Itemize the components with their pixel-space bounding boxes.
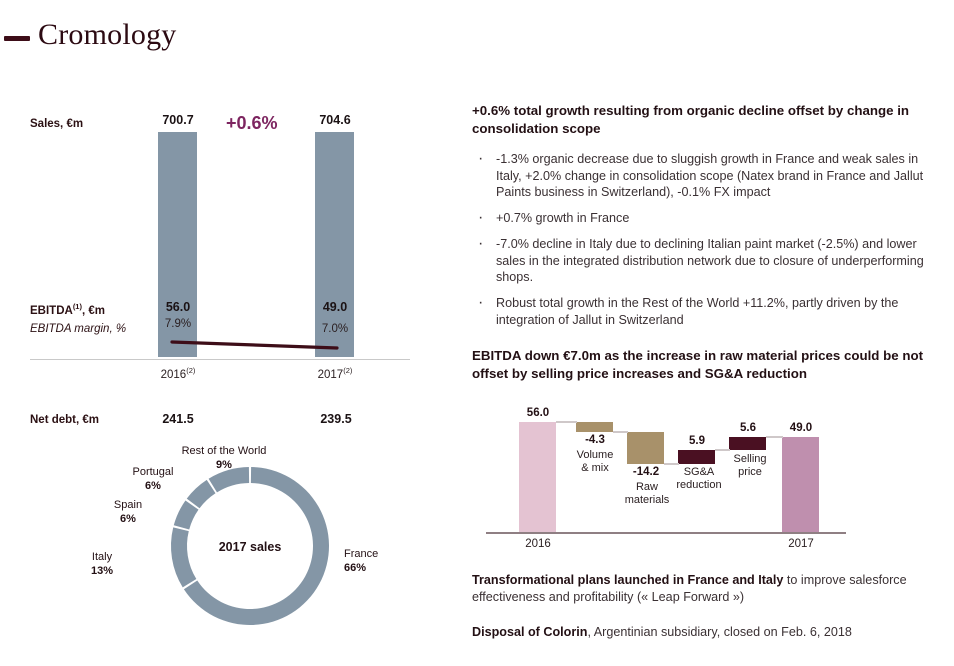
waterfall-value-selling-price: 5.6 [722, 422, 774, 434]
waterfall-bar-2017 [782, 437, 819, 532]
right-heading-growth: +0.6% total growth resulting from organi… [472, 102, 942, 137]
ebitda-margin-value-2016: 7.9% [156, 318, 200, 330]
waterfall-value-2017: 49.0 [775, 422, 827, 434]
ebitda-margin-trend-line [0, 0, 452, 420]
waterfall-label-volume-mix: Volume& mix [568, 449, 622, 475]
waterfall-value-sga-reduction: 5.9 [671, 435, 723, 447]
ebitda-label-main: EBITDA [30, 305, 73, 317]
waterfall-connector-4 [715, 449, 730, 451]
net-debt-value-2016: 241.5 [150, 412, 206, 426]
waterfall-value-raw-materials: -14.2 [620, 466, 672, 478]
growth-badge: +0.6% [226, 113, 278, 134]
ebitda-margin-value-2017: 7.0% [313, 323, 357, 335]
waterfall-bar-sga-reduction [678, 450, 715, 464]
disposal-colorin-rest: , Argentinian subsidiary, closed on Feb.… [587, 625, 851, 639]
waterfall-label-sga-reduction: SG&Areduction [668, 466, 730, 492]
list-item: -1.3% organic decrease due to sluggish g… [472, 151, 944, 201]
donut-label-france: France 66% [344, 548, 378, 576]
waterfall-tick-2017: 2017 [774, 538, 828, 550]
waterfall-bar-volume-mix [576, 422, 613, 432]
waterfall-connector-3 [664, 463, 679, 465]
transformational-plans-bold: Transformational plans launched in Franc… [472, 573, 783, 587]
list-item: +0.7% growth in France [472, 210, 944, 227]
disposal-colorin-bold: Disposal of Colorin [472, 625, 587, 639]
axis-tick-2016: 2016(2) [158, 366, 198, 381]
net-debt-label: Net debt, €m [30, 414, 99, 426]
growth-bullet-list: -1.3% organic decrease due to sluggish g… [472, 142, 944, 329]
donut-segment [171, 527, 196, 587]
waterfall-bar-selling-price [729, 437, 766, 450]
donut-label-spain: Spain 6% [104, 499, 152, 527]
ebitda-label-tail: , €m [82, 305, 105, 317]
left-panel: Sales, €m 700.7 704.6 +0.6% EBITDA(1), €… [0, 0, 452, 666]
sales-label: Sales, €m [30, 118, 83, 130]
waterfall-value-volume-mix: -4.3 [569, 434, 621, 446]
ebitda-value-2016: 56.0 [156, 300, 200, 314]
waterfall-label-selling-price: Sellingprice [722, 453, 778, 479]
ebitda-margin-label: EBITDA margin, % [30, 323, 126, 335]
waterfall-axis-line [486, 532, 846, 534]
ebitda-value-2017: 49.0 [313, 300, 357, 314]
donut-label-italy: Italy 13% [78, 551, 126, 579]
waterfall-bar-2016 [519, 422, 556, 532]
chart-axis-line [30, 359, 410, 360]
sales-value-2016: 700.7 [158, 113, 198, 127]
donut-label-rest-of-world: Rest of the World 9% [165, 445, 283, 473]
right-panel: +0.6% total growth resulting from organi… [468, 0, 954, 666]
donut-segment [187, 480, 216, 508]
net-debt-value-2017: 239.5 [308, 412, 364, 426]
list-item: -7.0% decline in Italy due to declining … [472, 236, 944, 286]
waterfall-bar-raw-materials [627, 432, 664, 464]
sales-value-2017: 704.6 [315, 113, 355, 127]
donut-segment [174, 500, 199, 529]
ebitda-label: EBITDA(1), €m [30, 302, 105, 317]
waterfall-connector-2 [613, 431, 628, 433]
ebitda-bridge-waterfall: 56.0 -4.3 Volume& mix -14.2 Rawmaterials… [472, 404, 950, 554]
ebitda-label-footnote: (1) [73, 302, 82, 311]
disposal-colorin-paragraph: Disposal of Colorin, Argentinian subsidi… [472, 624, 942, 641]
axis-tick-2017: 2017(2) [315, 366, 355, 381]
waterfall-value-2016: 56.0 [512, 407, 564, 419]
list-item: Robust total growth in the Rest of the W… [472, 295, 944, 328]
slide-page: Cromology Sales, €m 700.7 704.6 +0.6% EB… [0, 0, 954, 666]
transformational-plans-paragraph: Transformational plans launched in Franc… [472, 572, 942, 606]
waterfall-connector-5 [766, 436, 783, 438]
waterfall-tick-2016: 2016 [511, 538, 565, 550]
waterfall-connector-1 [556, 421, 577, 423]
donut-center-label: 2017 sales [185, 540, 315, 554]
right-heading-ebitda: EBITDA down €7.0m as the increase in raw… [472, 347, 942, 382]
